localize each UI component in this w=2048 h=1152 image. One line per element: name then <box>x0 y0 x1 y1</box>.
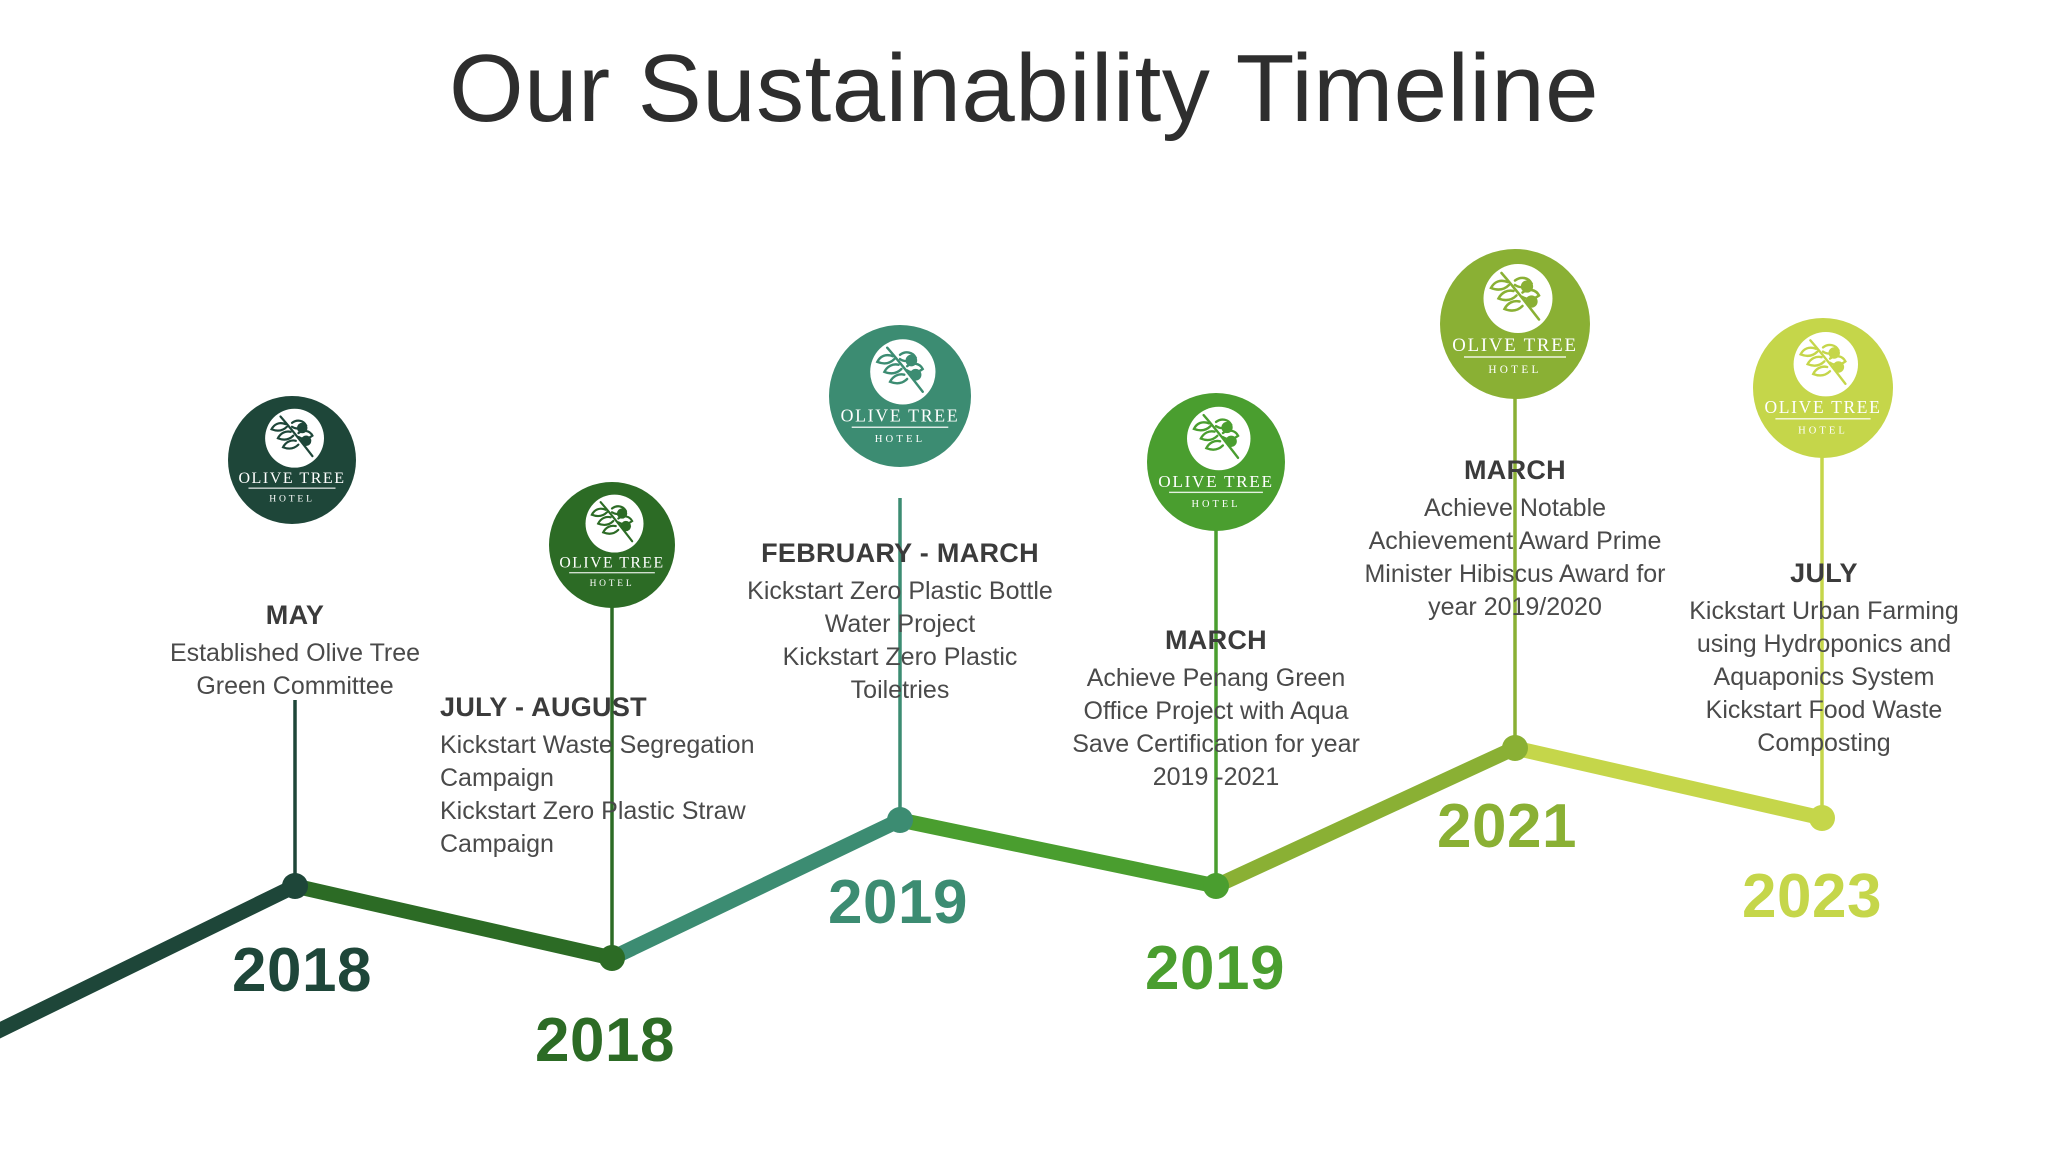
timeline-node-2 <box>599 945 625 971</box>
timeline-node-4 <box>1203 873 1229 899</box>
milestone-2-description: Kickstart Waste Segregation Campaign Kic… <box>440 729 790 861</box>
svg-text:HOTEL: HOTEL <box>590 579 635 589</box>
olive-tree-logo-5: OLIVE TREE HOTEL <box>1440 249 1590 399</box>
svg-text:HOTEL: HOTEL <box>1191 499 1240 510</box>
year-label-5: 2021 <box>1437 796 1577 858</box>
year-label-6: 2023 <box>1742 866 1882 928</box>
milestone-1-period: MAY <box>145 600 445 631</box>
timeline-node-5 <box>1502 735 1528 761</box>
olive-tree-logo-3: OLIVE TREE HOTEL <box>829 325 971 467</box>
year-label-3: 2019 <box>828 872 968 934</box>
milestone-4-description: Achieve Penang Green Office Project with… <box>1060 662 1372 794</box>
timeline-node-6 <box>1809 805 1835 831</box>
milestone-6-description: Kickstart Urban Farming using Hydroponic… <box>1668 595 1980 760</box>
svg-text:HOTEL: HOTEL <box>1488 364 1541 376</box>
milestone-3: FEBRUARY - MARCH Kickstart Zero Plastic … <box>738 538 1062 707</box>
milestone-5-description: Achieve Notable Achievement Award Prime … <box>1352 492 1678 624</box>
milestone-5: MARCH Achieve Notable Achievement Award … <box>1352 455 1678 624</box>
svg-text:HOTEL: HOTEL <box>1798 426 1848 437</box>
olive-tree-logo-1: OLIVE TREE HOTEL <box>228 396 356 524</box>
page-title: Our Sustainability Timeline <box>0 36 2048 142</box>
svg-text:OLIVE TREE: OLIVE TREE <box>1764 397 1881 417</box>
olive-tree-logo-2: OLIVE TREE HOTEL <box>549 482 675 608</box>
svg-text:HOTEL: HOTEL <box>269 494 314 505</box>
svg-text:OLIVE TREE: OLIVE TREE <box>1452 335 1577 356</box>
milestone-6-period: JULY <box>1668 558 1980 589</box>
year-label-2: 2018 <box>535 1010 675 1072</box>
milestone-3-description: Kickstart Zero Plastic Bottle Water Proj… <box>738 575 1062 707</box>
svg-text:OLIVE TREE: OLIVE TREE <box>1158 472 1273 491</box>
milestone-3-period: FEBRUARY - MARCH <box>738 538 1062 569</box>
year-label-1: 2018 <box>232 940 372 1002</box>
olive-tree-logo-6: OLIVE TREE HOTEL <box>1753 318 1893 458</box>
milestone-4-period: MARCH <box>1060 625 1372 656</box>
milestone-1-description: Established Olive Tree Green Committee <box>145 637 445 703</box>
milestone-2: JULY - AUGUST Kickstart Waste Segregatio… <box>440 692 790 861</box>
svg-text:OLIVE TREE: OLIVE TREE <box>559 555 664 572</box>
milestone-4: MARCH Achieve Penang Green Office Projec… <box>1060 625 1372 794</box>
milestone-1: MAY Established Olive Tree Green Committ… <box>145 600 445 703</box>
milestone-5-period: MARCH <box>1352 455 1678 486</box>
year-label-4: 2019 <box>1145 938 1285 1000</box>
svg-text:OLIVE TREE: OLIVE TREE <box>841 406 960 426</box>
timeline-node-3 <box>887 807 913 833</box>
olive-tree-logo-4: OLIVE TREE HOTEL <box>1147 393 1285 531</box>
milestone-6: JULY Kickstart Urban Farming using Hydro… <box>1668 558 1980 760</box>
svg-text:OLIVE TREE: OLIVE TREE <box>238 470 345 487</box>
svg-text:HOTEL: HOTEL <box>875 434 926 445</box>
timeline-node-1 <box>282 873 308 899</box>
